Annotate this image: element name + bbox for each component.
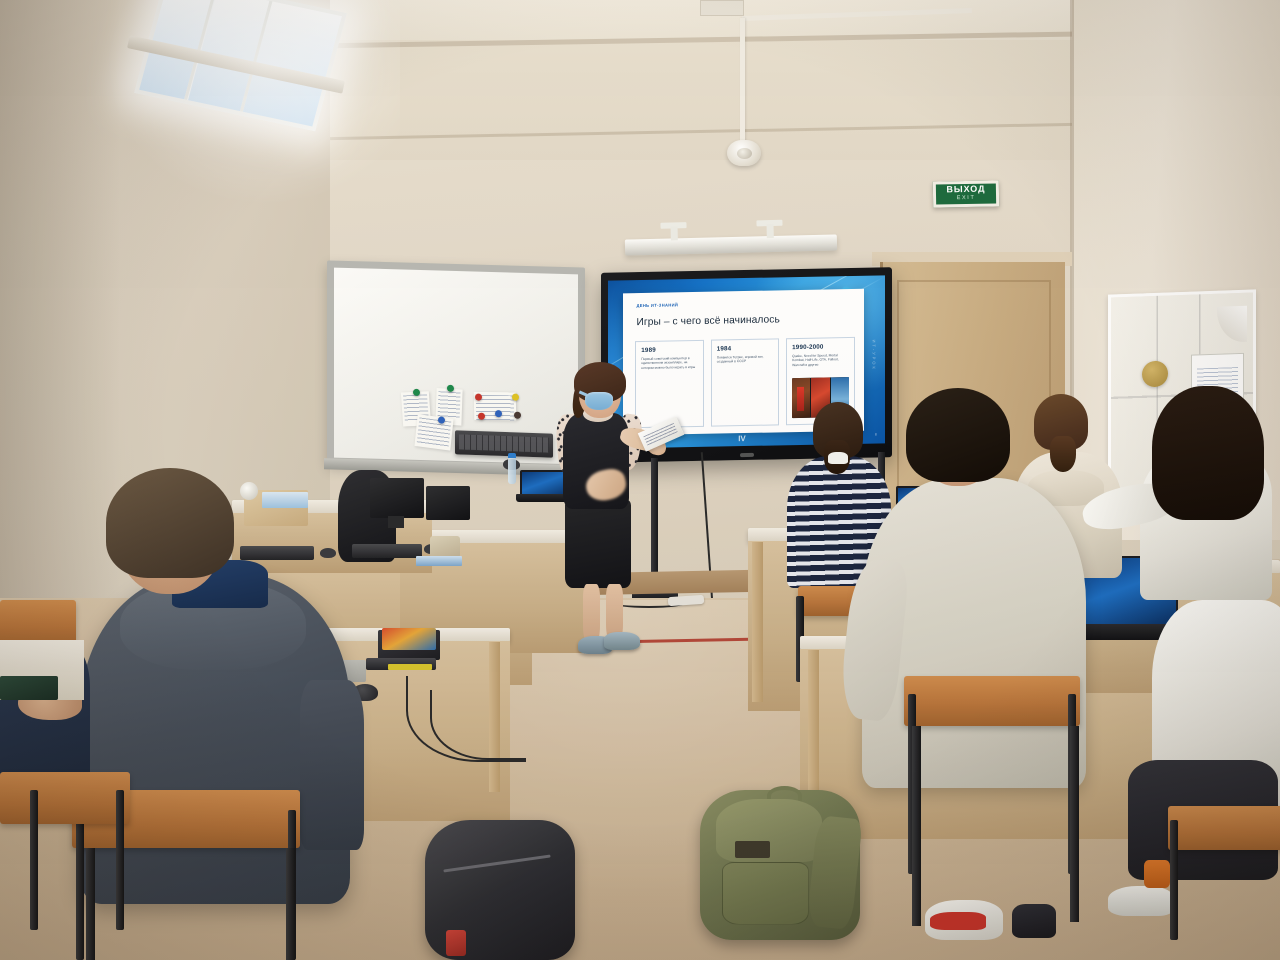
water-bottle (508, 458, 516, 484)
student-collar (828, 452, 848, 464)
ceiling-conduit-vertical (740, 18, 745, 146)
magnet-blue[interactable] (495, 410, 502, 417)
slide-brand-label: ДЕНЬ ИТ-ЗНАНИЙ (636, 302, 678, 308)
backpack-front-pocket (722, 862, 808, 925)
device-on-desk (0, 676, 58, 700)
chair-right[interactable] (1168, 806, 1280, 850)
exit-sign: ВЫХОД EXIT (933, 180, 999, 207)
magnet-yellow[interactable] (512, 394, 519, 401)
teacher-shoe-right (604, 632, 640, 650)
student-ponytail (1050, 436, 1076, 472)
student-arm-right (300, 680, 364, 850)
yellow-marker (388, 664, 432, 670)
tetris-screenshot-image (721, 398, 778, 399)
timeline-card-description: Первый советский компьютер в единственно… (641, 356, 698, 370)
keyboard-icon[interactable] (352, 544, 422, 558)
bottle-cap (508, 453, 516, 458)
computer-top-case (649, 404, 700, 405)
desk-leg (752, 542, 763, 702)
chair-backrest (904, 676, 1080, 726)
timeline-card: 1989 Первый советский компьютер в единст… (635, 340, 703, 427)
student-shoe (1108, 886, 1174, 916)
face-mask-icon (585, 392, 613, 410)
tetris-hud-panel (760, 398, 776, 399)
chair-leg (1070, 726, 1079, 922)
teacher-skirt (565, 500, 631, 588)
monitor-stand (388, 516, 404, 528)
exit-sign-label-en: EXIT (957, 194, 976, 203)
student-hair (906, 388, 1010, 482)
chair-center[interactable] (904, 676, 1080, 726)
timeline-card-year: 1989 (641, 346, 698, 354)
chair-leg (86, 848, 95, 960)
ceiling-conduit-box (700, 0, 744, 16)
teacher-leg-left (583, 584, 600, 644)
retro-home-computer-image (645, 403, 702, 404)
exit-sign-label-ru: ВЫХОД (946, 185, 985, 195)
book-stack (416, 556, 462, 566)
chair-post (76, 810, 84, 960)
whiteboard-note (414, 414, 453, 450)
timeline-card-year: 1990-2000 (792, 343, 849, 351)
timeline-card-year: 1984 (717, 345, 774, 353)
student-sock (1144, 860, 1170, 888)
chair-post (1170, 820, 1178, 940)
chair-backrest (0, 772, 130, 824)
tape-roll-icon (240, 482, 258, 500)
magnet-red[interactable] (478, 413, 485, 420)
notebook-cover (382, 628, 436, 650)
magnet-green[interactable] (447, 385, 454, 392)
student-shoe-dark (1012, 904, 1056, 938)
game-thumbnail (792, 378, 810, 418)
magnet-dark[interactable] (514, 412, 521, 419)
chair-post (30, 790, 38, 930)
slide-page-number: 8 (875, 433, 877, 437)
magnet-red[interactable] (475, 394, 482, 401)
monitor-rear (426, 486, 470, 520)
motion-sensor-icon (727, 140, 761, 166)
note-lines (417, 417, 452, 447)
backpack-brand-tag (735, 841, 770, 858)
backpack-zipper (443, 854, 550, 872)
computer-keyboard-area (648, 404, 700, 405)
magnet-blue[interactable] (438, 416, 445, 423)
keyboard-icon[interactable] (240, 546, 314, 560)
mouse-icon[interactable] (320, 548, 336, 558)
backpack-olive[interactable] (700, 790, 860, 940)
desk-item-box (430, 536, 460, 558)
stacked-booklets (262, 492, 308, 508)
chair-post (116, 790, 124, 930)
classroom-scene: ВЫХОД EXIT (0, 0, 1280, 960)
slide-title: Игры – с чего всё начиналось (636, 315, 779, 329)
magnet-green[interactable] (413, 389, 420, 396)
display-brand-logo (740, 453, 754, 457)
timeline-card-description: Появился Тетрис, игровой хит, созданный … (717, 354, 774, 364)
fixture-arm-1 (671, 226, 678, 240)
student-hair (106, 468, 234, 578)
note-lines (438, 391, 461, 418)
timeline-card: 1984 Появился Тетрис, игровой хит, созда… (711, 339, 779, 426)
slide-corner-mark: IV (738, 434, 746, 443)
monitor-rear (370, 478, 424, 518)
shoe-accent (930, 912, 986, 930)
student-hair-long (1152, 386, 1264, 520)
fixture-arm-2 (767, 224, 774, 238)
chair-leg (286, 848, 295, 960)
keyboard-on-tray[interactable] (455, 430, 553, 457)
red-object-floor (446, 930, 466, 956)
chair-backrest (1168, 806, 1280, 850)
slide-watermark: ИТ-УРОК (872, 339, 877, 370)
chair-leg (912, 726, 921, 926)
chair-far-left[interactable] (0, 772, 130, 824)
timeline-card-description: Quake, Need for Speed, Mortal Kombat, Ha… (792, 353, 849, 367)
motion-sensor-lens (737, 148, 752, 159)
